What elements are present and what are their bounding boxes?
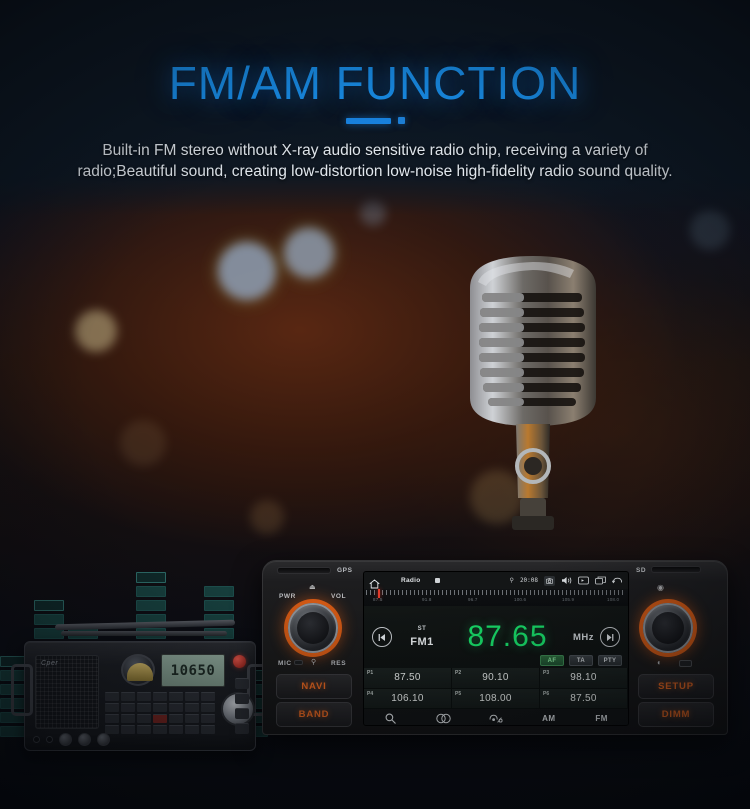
radio-lcd-display: 10650 [161, 654, 225, 687]
headphone-jack-icon [33, 736, 40, 743]
bokeh-light [75, 310, 117, 352]
band-button[interactable]: BAND [276, 702, 352, 727]
preset-cell[interactable]: P4 106.10 [364, 689, 452, 710]
bokeh-light [218, 242, 276, 300]
stereo-indicator: ST [402, 626, 442, 632]
band-indicator: ST FM1 [402, 626, 442, 648]
preset-number: P5 [455, 691, 461, 697]
scale-label: 96.7 [468, 597, 478, 602]
speaker-icon[interactable] [561, 576, 572, 586]
display-off-icon[interactable] [679, 660, 692, 667]
scale-label: 87.5 [373, 597, 383, 602]
seek-next-icon[interactable] [600, 627, 620, 647]
sd-label: SD [636, 567, 646, 574]
bokeh-light [120, 420, 166, 466]
camera-icon[interactable] [544, 576, 555, 586]
aux-jack-icon [46, 736, 53, 743]
disc-slot [277, 567, 331, 574]
antenna-loc-icon[interactable] [470, 709, 523, 726]
dimm-button[interactable]: DIMM [638, 702, 714, 727]
preset-number: P6 [543, 691, 549, 697]
radio-main-display: ST FM1 87.65 MHz AF TA PTY [364, 606, 628, 668]
radio-knob[interactable] [97, 733, 110, 746]
seek-prev-icon[interactable] [372, 627, 392, 647]
scale-label: 100.6 [514, 597, 526, 602]
status-bar-time: 20:08 [520, 577, 538, 584]
radio-bottom-controls[interactable] [33, 733, 110, 746]
scale-label: 105.9 [562, 597, 574, 602]
tune-knob[interactable] [643, 603, 693, 653]
pwr-label: PWR [279, 593, 296, 600]
pty-button[interactable]: PTY [598, 655, 622, 666]
screen-bottom-bar: AM FM [364, 709, 628, 726]
stereo-icon[interactable] [417, 709, 470, 726]
preset-value: 106.10 [391, 693, 423, 704]
preset-number: P4 [367, 691, 373, 697]
gps-label: GPS [337, 567, 353, 574]
fm-band-button[interactable]: FM [575, 709, 628, 726]
recents-icon[interactable] [595, 576, 606, 586]
tuner-frequency-scale[interactable]: 87.5 91.8 96.7 100.6 105.9 108.0 [364, 589, 628, 606]
af-button[interactable]: AF [540, 655, 564, 666]
radio-antenna-secondary [61, 631, 227, 636]
rds-button-group: AF TA PTY [540, 655, 622, 666]
head-unit-left-panel: GPS ⏏ PWR VOL MIC ⚲ RES NAVI BAND [263, 561, 363, 736]
mic-label: MIC [278, 660, 292, 667]
preset-number: P3 [543, 670, 549, 676]
page-root: FM/AM FUNCTION Built-in FM stereo withou… [0, 0, 750, 809]
sd-card-slot [651, 566, 701, 573]
scale-ticks [366, 590, 626, 595]
radio-side-buttons[interactable] [235, 678, 249, 734]
setup-button[interactable]: SETUP [638, 674, 714, 699]
disc-icon[interactable]: ◉ [657, 583, 664, 592]
page-subtitle: Built-in FM stereo without X-ray audio s… [75, 140, 675, 182]
reset-pin-icon[interactable]: ⚲ [311, 658, 316, 666]
car-head-unit: GPS ⏏ PWR VOL MIC ⚲ RES NAVI BAND SD ◉ ◐… [262, 560, 728, 735]
status-bar-right: ⚲ 20:08 [510, 576, 623, 586]
head-unit-right-panel: SD ◉ ◐ SETUP DIMM [627, 561, 727, 736]
radio-keypad[interactable] [105, 692, 215, 734]
scale-label: 108.0 [607, 597, 619, 602]
location-icon: ⚲ [510, 577, 514, 584]
microphone-port-icon [294, 660, 303, 665]
screen-app-title: Radio [401, 577, 421, 584]
power-button-icon[interactable] [233, 655, 246, 668]
vintage-microphone [438, 248, 628, 578]
accent-dot [398, 117, 405, 124]
radio-knob[interactable] [78, 733, 91, 746]
radio-handle-left [11, 664, 33, 716]
bokeh-light [250, 500, 284, 534]
preset-value: 90.10 [482, 672, 509, 683]
volume-knob[interactable] [288, 603, 338, 653]
preset-number: P1 [367, 670, 373, 676]
title-accent [0, 112, 750, 130]
radio-brand-label: Cper [41, 660, 58, 667]
navi-button[interactable]: NAVI [276, 674, 352, 699]
preset-grid: P1 87.50 P2 90.10 P3 98.10 P4 106.10 P5 [364, 668, 628, 709]
preset-cell[interactable]: P5 108.00 [452, 689, 540, 710]
band-label: FM1 [402, 636, 442, 648]
preset-value: 87.50 [570, 693, 597, 704]
preset-value: 98.10 [570, 672, 597, 683]
brightness-icon[interactable] [578, 576, 589, 586]
back-arrow-icon[interactable] [612, 576, 623, 586]
radio-knob[interactable] [59, 733, 72, 746]
preset-value: 87.50 [394, 672, 421, 683]
res-label: RES [331, 660, 346, 667]
bokeh-light [690, 210, 730, 250]
ta-button[interactable]: TA [569, 655, 593, 666]
mute-icon[interactable]: ◐ [657, 658, 662, 667]
scale-label: 91.8 [422, 597, 432, 602]
vol-label: VOL [331, 593, 346, 600]
frequency-readout: 87.65 [442, 620, 573, 654]
preset-number: P2 [455, 670, 461, 676]
preset-cell[interactable]: P6 87.50 [540, 689, 628, 710]
vintage-radio: Cper 10650 [24, 641, 256, 751]
frequency-unit: MHz [573, 632, 594, 643]
home-icon[interactable] [369, 576, 380, 586]
preset-cell[interactable]: P1 87.50 [364, 668, 452, 689]
screen-status-bar: Radio ⚲ 20:08 [364, 572, 628, 589]
accent-bar [346, 118, 391, 124]
stop-square-icon[interactable] [435, 578, 440, 583]
preset-cell[interactable]: P3 98.10 [540, 668, 628, 689]
preset-cell[interactable]: P2 90.10 [452, 668, 540, 689]
preset-value: 108.00 [479, 693, 511, 704]
vu-meter-icon [121, 654, 155, 686]
eject-icon[interactable]: ⏏ [309, 583, 316, 591]
bokeh-light [284, 228, 334, 278]
touchscreen-display[interactable]: Radio ⚲ 20:08 [363, 571, 629, 726]
am-band-button[interactable]: AM [522, 709, 575, 726]
page-title: FM/AM FUNCTION [0, 56, 750, 110]
search-icon[interactable] [364, 709, 417, 726]
